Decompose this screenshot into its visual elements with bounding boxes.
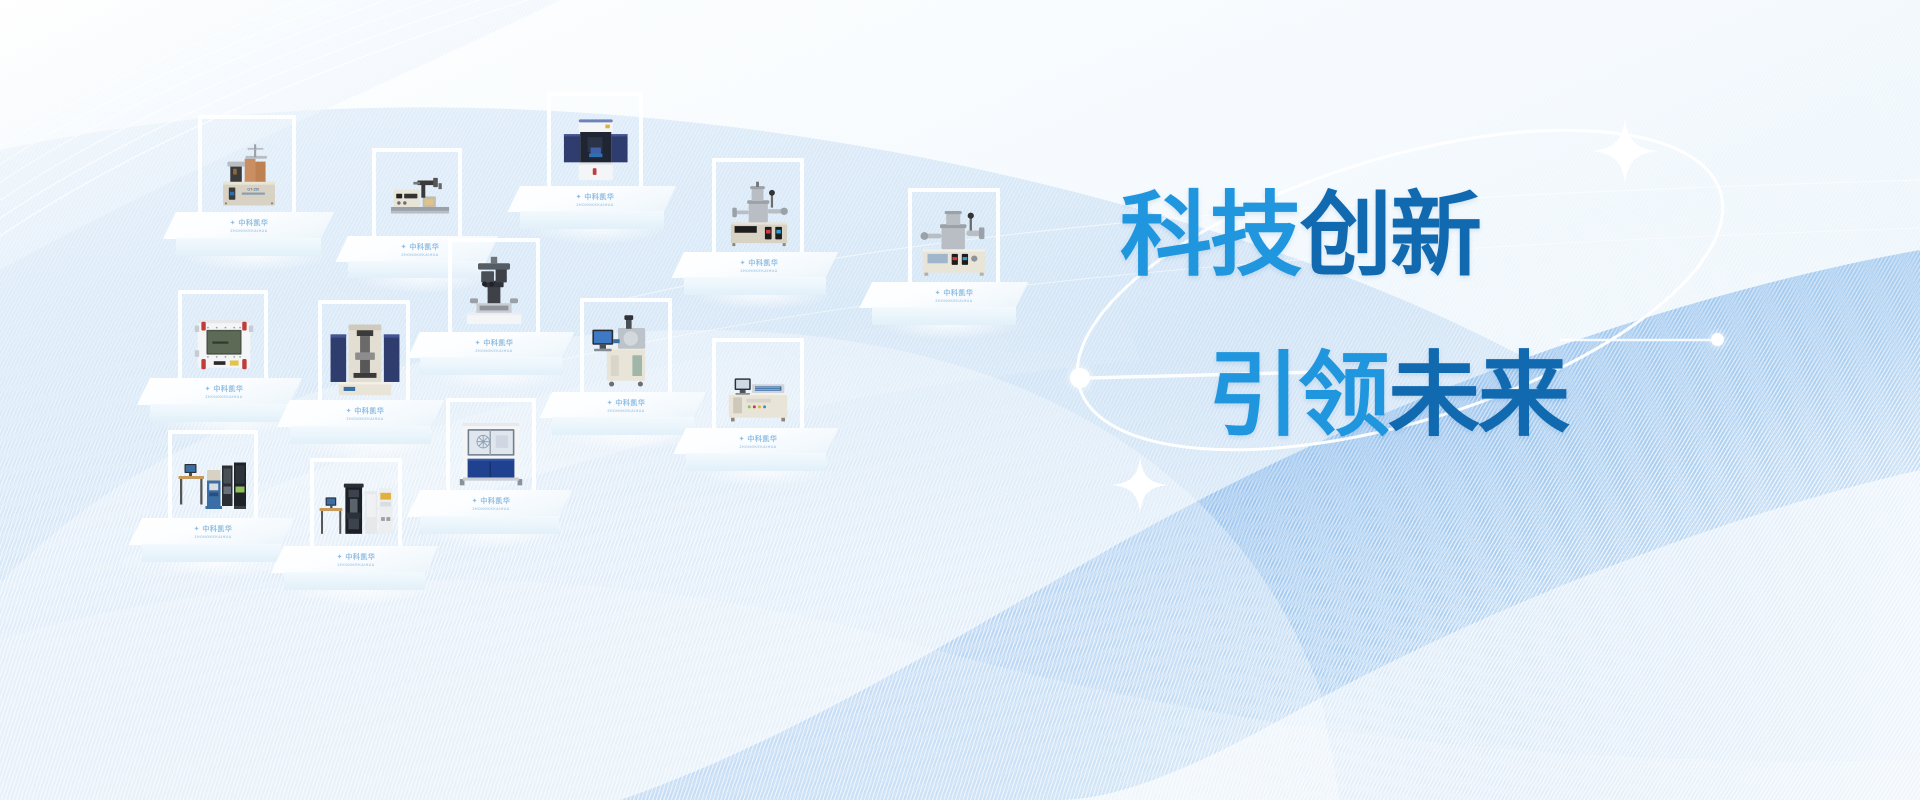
orbit-dot-large bbox=[1070, 368, 1090, 388]
product-image bbox=[450, 412, 532, 490]
product-platform bbox=[420, 490, 572, 534]
headline-line1-part1: 科技 bbox=[1120, 185, 1300, 287]
headline-line2-part2: 未来 bbox=[1388, 345, 1568, 447]
hero-banner: GT-150 ✦ 中科凯华ZHONGKEKAIHUA bbox=[0, 0, 1920, 800]
headline-line2-part1: 引领 bbox=[1208, 345, 1388, 447]
sparkle-top-icon bbox=[1592, 118, 1658, 184]
headline-line-1: 科技创新 bbox=[1120, 190, 1480, 282]
platform-top bbox=[407, 490, 572, 516]
platform-side bbox=[420, 516, 559, 534]
headline-line1-part2: 创新 bbox=[1300, 185, 1480, 287]
headline-block: 科技创新 引领未来 bbox=[1120, 190, 1740, 470]
platform-glow bbox=[414, 534, 578, 556]
headline-line-2: 引领未来 bbox=[1208, 350, 1568, 442]
